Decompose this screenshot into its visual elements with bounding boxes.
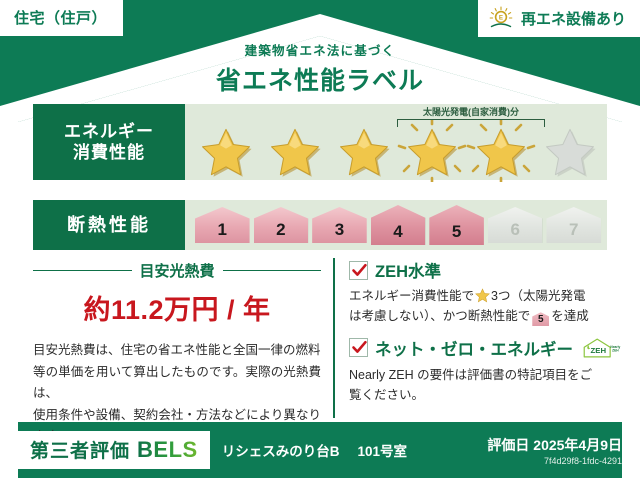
claim-zeh-body-star: 3つ（太陽光発電 [491,289,585,303]
claim-net-zero-energy: ネット・ゼロ・エネルギー ZEH Nearly ZEH Nearly ZEH の… [349,335,622,406]
claim-zeh-standard-body: エネルギー消費性能で3つ（太陽光発電 は考慮しない）、かつ断熱性能で5を達成 [349,286,622,327]
star-icon [540,126,600,178]
renewable-energy-label: 再エネ設備あり [521,8,626,29]
star-filled [468,122,534,178]
star-filled [399,122,465,178]
claim-zeh-body-part2: は考慮しない）、かつ断熱性能で [349,309,530,323]
insulation-performance-value: 1234567 [185,200,607,250]
star-icon [402,126,462,178]
label-details: 目安光熱費 約11.2万円 / 年 目安光熱費は、住宅の省エネ性能と全国一律の燃… [33,258,607,418]
svg-text:E: E [499,15,503,22]
insulation-chip-4: 4 [371,205,426,245]
claim-net-zero-energy-title: ネット・ゼロ・エネルギー [375,336,573,360]
cost-rule-right [223,270,322,272]
claim-zeh-body-part3: を達成 [551,309,589,323]
claim-zeh-standard-header: ZEH水準 [349,258,622,282]
checkbox-checked-icon [349,338,368,357]
insulation-performance-row: 断熱性能 1234567 [33,200,607,250]
insulation-performance-key: 断熱性能 [33,200,185,250]
housing-type-tag: 住宅（住戸） [0,0,123,36]
label-footer: 第三者評価 BELS リシェスみのり台B 101号室 評価日 2025年4月9日… [0,422,640,478]
energy-performance-label: 住宅（住戸） E 再エネ設備あり 建築物省エネ法に基づく 省エネ性能ラベル エネ [0,0,640,478]
bels-badge: 第三者評価 BELS [18,431,210,469]
star-filled [262,122,328,178]
energy-performance-key: エネルギー 消費性能 [33,104,185,180]
evaluation-info: 評価日 2025年4月9日 7f4d29f8-1fdc-4291 [487,435,622,466]
utility-cost-value: 約11.2万円 / 年 [33,288,321,327]
utility-cost-section: 目安光熱費 約11.2万円 / 年 目安光熱費は、住宅の省エネ性能と全国一律の燃… [33,258,333,418]
zeh-house-badge-icon: ZEH Nearly ZEH [582,335,622,361]
room-number: 101号室 [357,440,407,460]
insulation-chip-3: 3 [312,207,367,243]
solar-annotation: 太陽光発電(自家消費)分 [397,105,545,127]
checkbox-checked-icon [349,261,368,280]
star-icon [265,126,325,178]
solar-annotation-bracket [397,119,545,127]
star-icon [334,126,394,178]
star-filled [331,122,397,178]
sun-icon: E [488,6,514,30]
claim-zeh-standard-title: ZEH水準 [375,258,441,282]
claim-net-zero-energy-body: Nearly ZEH の要件は評価書の特記項目をご 覧ください。 [349,365,622,406]
label-heading: 建築物省エネ法に基づく 省エネ性能ラベル [0,40,640,97]
star-icon [196,126,256,178]
evaluation-id: 7f4d29f8-1fdc-4291 [487,456,622,466]
claim-zeh-body-part1: エネルギー消費性能で [349,289,474,303]
column-divider [333,258,335,418]
cost-note-line1: 目安光熱費は、住宅の省エネ性能と全国一律の燃料 [33,340,321,362]
cost-rule-left [33,270,132,272]
evaluation-date: 評価日 2025年4月9日 [487,435,622,455]
energy-performance-value: 太陽光発電(自家消費)分 [185,104,607,180]
claims-section: ZEH水準 エネルギー消費性能で3つ（太陽光発電 は考慮しない）、かつ断熱性能で… [349,258,622,418]
renewable-energy-tag: E 再エネ設備あり [478,0,640,37]
insulation-key-label: 断熱性能 [67,214,151,237]
claim-zeh-standard: ZEH水準 エネルギー消費性能で3つ（太陽光発電 は考慮しない）、かつ断熱性能で… [349,258,622,327]
insulation-chip-5: 5 [429,205,484,245]
utility-cost-header: 目安光熱費 [33,260,321,281]
insulation-level-chips: 1234567 [195,200,601,250]
solar-annotation-label: 太陽光発電(自家消費)分 [397,105,545,118]
insulation-chip-6: 6 [488,207,543,243]
bels-badge-en-label: BELS [137,437,198,463]
building-name: リシェスみのり台B [222,440,340,460]
claim-nze-body-line1: Nearly ZEH の要件は評価書の特記項目をご [349,365,622,385]
star-filled [193,122,259,178]
star-empty [537,122,603,178]
svg-text:ZEH: ZEH [591,346,607,355]
claim-net-zero-energy-header: ネット・ゼロ・エネルギー ZEH Nearly ZEH [349,335,622,361]
insulation-chip-7: 7 [546,207,601,243]
insulation-chip-2: 2 [254,207,309,243]
claim-nze-body-line2: 覧ください。 [349,385,622,405]
heading-title: 省エネ性能ラベル [0,61,640,97]
svg-text:ZEH: ZEH [612,348,619,352]
energy-key-line2: 消費性能 [73,142,145,163]
energy-performance-row: エネルギー 消費性能 太陽光発電(自家消費)分 [33,104,607,180]
utility-cost-title: 目安光熱費 [140,260,215,281]
insulation-chip-1: 1 [195,207,250,243]
cost-note-line2: 等の単価を用いて算出したものです。実際の光熱費は、 [33,362,321,405]
heading-subtitle: 建築物省エネ法に基づく [0,40,640,59]
energy-key-line1: エネルギー [64,121,154,142]
bels-badge-jp-label: 第三者評価 [30,436,130,463]
inline-star-icon [475,288,490,303]
star-icon [471,126,531,178]
inline-level-chip: 5 [532,312,549,326]
housing-type-label: 住宅（住戸） [14,10,107,27]
star-rating [193,122,603,178]
